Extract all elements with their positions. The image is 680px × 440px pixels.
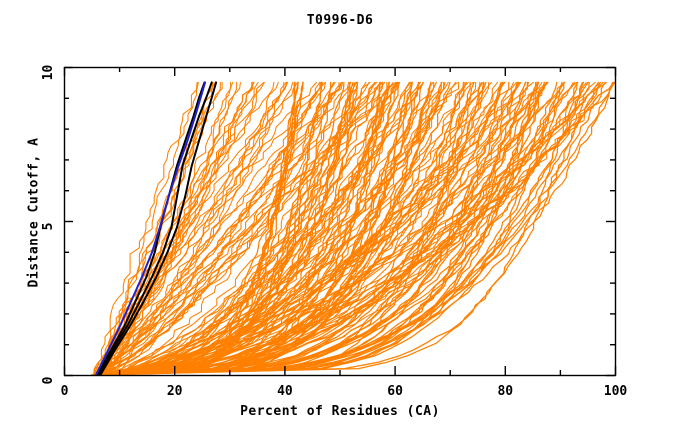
- plot-canvas: 0204060801000510: [0, 0, 680, 440]
- x-tick-label: 20: [167, 384, 183, 399]
- x-tick-label: 80: [497, 384, 513, 399]
- x-tick-label: 0: [61, 384, 69, 399]
- x-tick-label: 40: [277, 384, 293, 399]
- y-tick-label: 0: [41, 376, 56, 384]
- chart-figure: T0996-D6 Percent of Residues (CA) Distan…: [0, 0, 680, 440]
- prediction-curve: [94, 82, 216, 375]
- x-tick-label: 100: [604, 384, 628, 399]
- curves-layer: [92, 82, 615, 375]
- x-tick-label: 60: [387, 384, 403, 399]
- y-tick-label: 10: [41, 65, 56, 81]
- y-tick-label: 5: [41, 223, 56, 231]
